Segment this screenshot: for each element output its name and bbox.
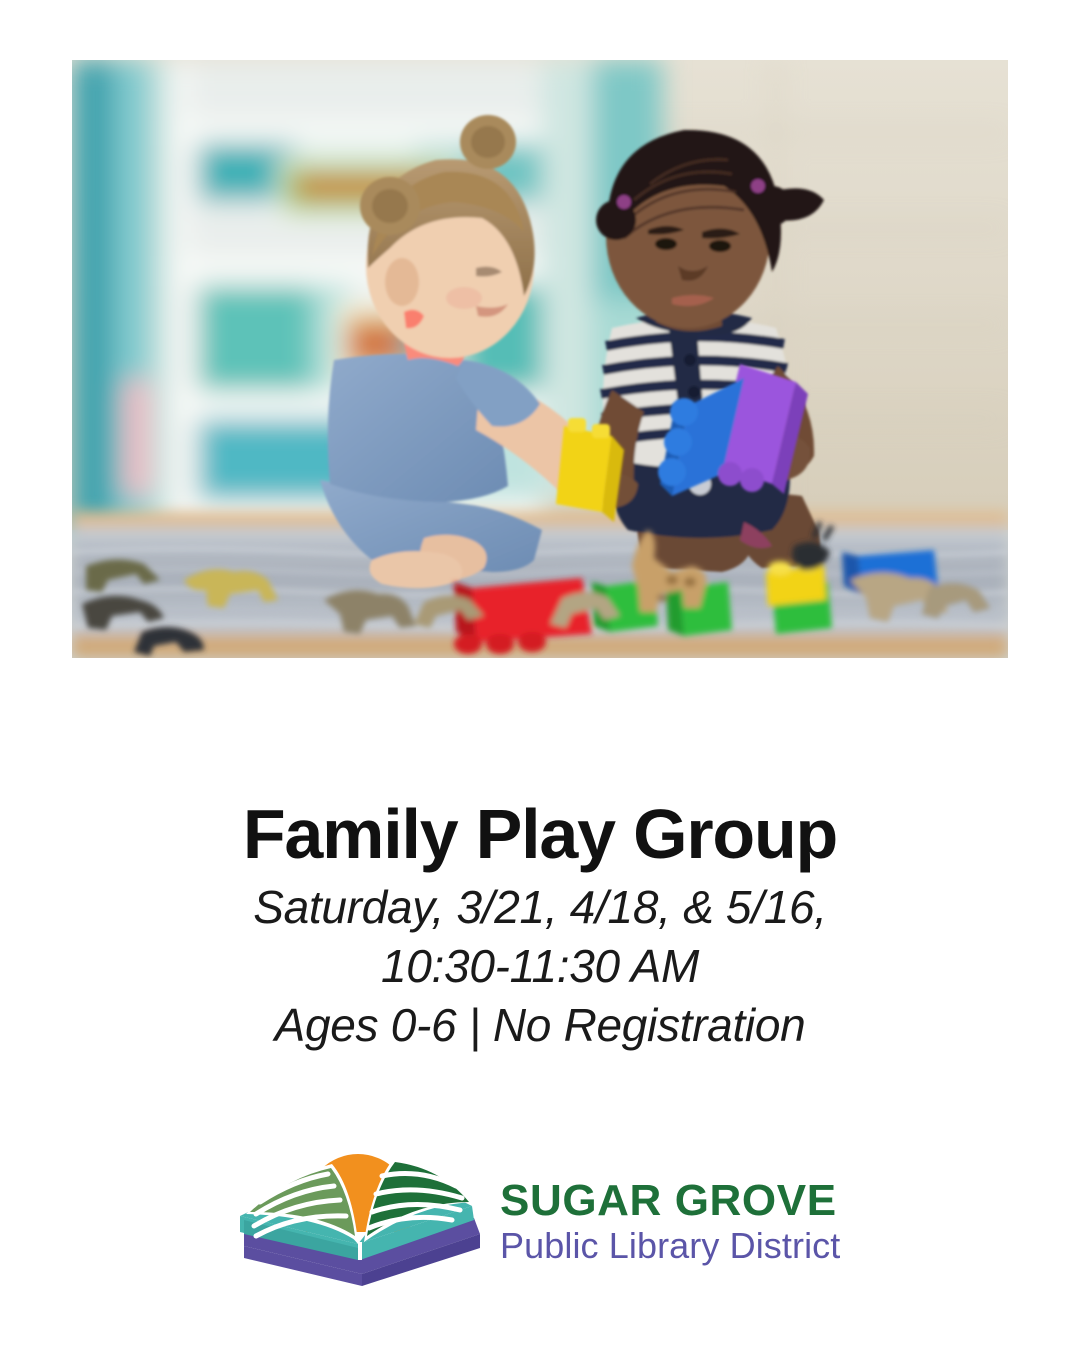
poster-canvas: Family Play Group Saturday, 3/21, 4/18, … — [0, 0, 1080, 1350]
open-book-with-sun-icon — [236, 1102, 486, 1292]
library-logo: SUGAR GROVE Public Library District — [236, 1102, 876, 1292]
logo-org-subtitle: Public Library District — [500, 1226, 840, 1266]
event-details: Saturday, 3/21, 4/18, & 5/16, 10:30-11:3… — [0, 878, 1080, 1055]
event-dates-line: Saturday, 3/21, 4/18, & 5/16, — [0, 878, 1080, 937]
event-time-line: 10:30-11:30 AM — [0, 937, 1080, 996]
logo-wordmark: SUGAR GROVE Public Library District — [500, 1127, 840, 1266]
logo-mark-svg — [236, 1102, 486, 1292]
event-audience-line: Ages 0-6 | No Registration — [0, 996, 1080, 1055]
page-title: Family Play Group — [0, 799, 1080, 869]
logo-org-name: SUGAR GROVE — [500, 1179, 840, 1224]
photo-illustration — [72, 60, 1008, 658]
event-photo — [72, 60, 1008, 658]
